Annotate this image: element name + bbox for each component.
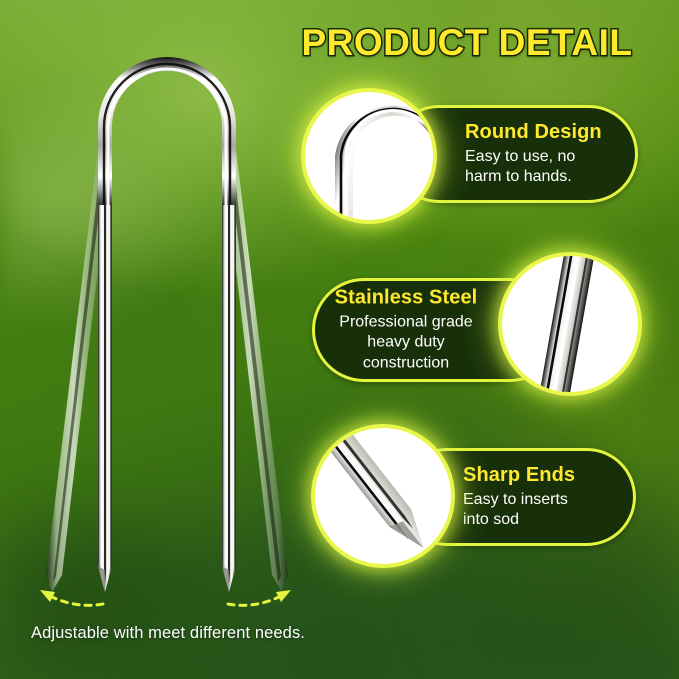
adjustability-arrows [0,570,330,624]
product-caption: Adjustable with meet different needs. [0,624,336,643]
arrow-right-dashed-curve [228,595,283,605]
feature-circle-round-design [305,92,433,220]
product-illustration [0,0,330,620]
feature-title-sharp-ends: Sharp Ends [463,464,619,487]
feature-title-stainless-steel: Stainless Steel [329,287,483,310]
feature-desc-stainless-steel: Professional grade heavy duty constructi… [329,313,483,373]
feature-circle-sharp-ends [315,428,451,564]
feature-circle-stainless-steel [502,256,638,392]
adjustable-range-legs [46,150,288,592]
feature-desc-round-design: Easy to use, no harm to hands. [465,147,621,187]
feature-desc-sharp-ends: Easy to inserts into sod [463,490,619,530]
page-title: PRODUCT DETAIL [292,22,642,64]
u-shaped-staple-body [98,57,236,592]
arrow-left-dashed-curve [48,595,103,605]
arrow-left-head [40,590,55,602]
feature-title-round-design: Round Design [465,121,621,144]
arrow-right-head [276,590,291,602]
product-detail-image: PRODUCT DETAIL [0,0,679,679]
